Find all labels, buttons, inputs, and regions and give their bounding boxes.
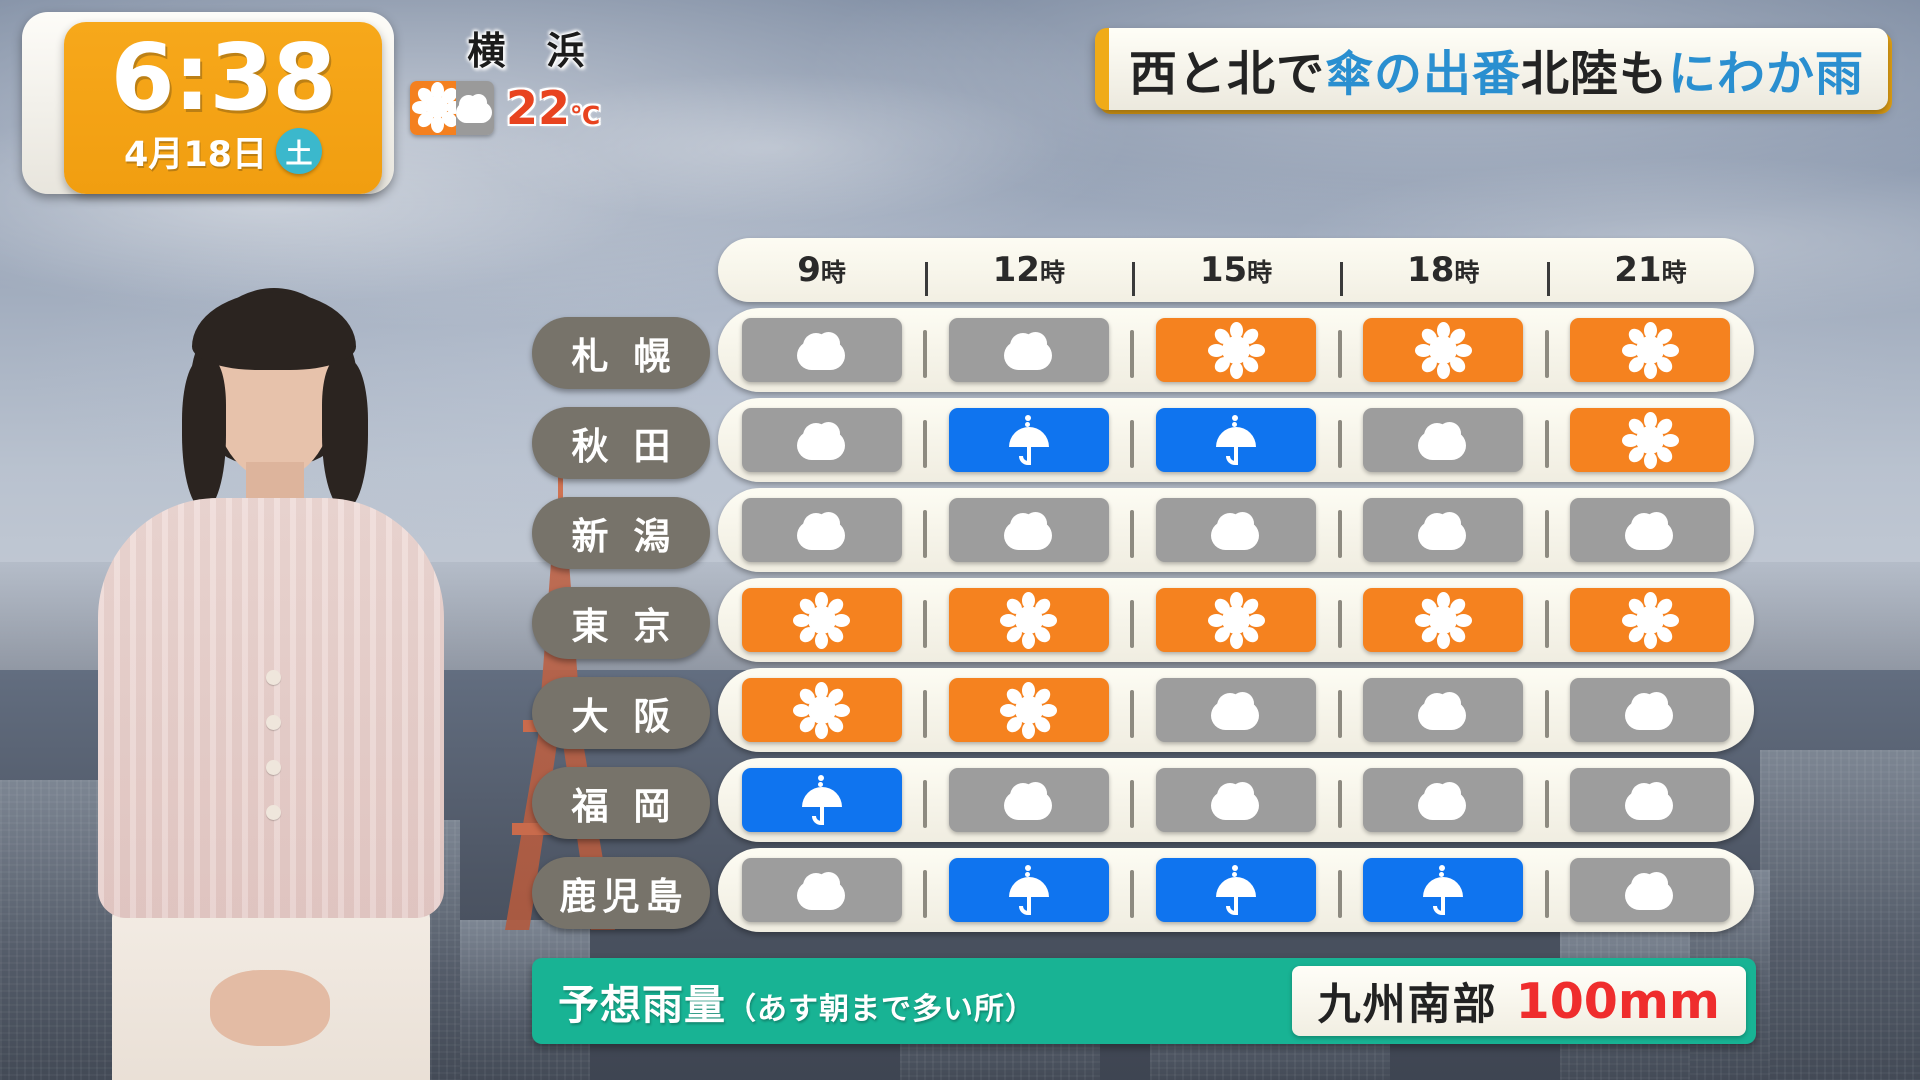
cloud-icon <box>795 870 849 910</box>
cloud-icon <box>1623 780 1677 820</box>
umbrella-rain-icon <box>1006 415 1052 465</box>
forecast-cell[interactable] <box>1340 588 1547 652</box>
sun-ray <box>1437 632 1450 649</box>
city-label-大阪[interactable]: 大 阪 <box>532 677 710 749</box>
sun-half <box>410 81 456 135</box>
weather-chip-cloudy[interactable] <box>949 318 1109 382</box>
weather-chip-rain[interactable] <box>1363 858 1523 922</box>
table-row: 鹿児島 <box>532 848 1754 932</box>
table-row: 大 阪 <box>532 668 1754 752</box>
weather-chip-sunny[interactable] <box>949 678 1109 742</box>
forecast-cell[interactable] <box>1132 408 1339 472</box>
presenter-hair-right <box>322 360 368 510</box>
weather-chip-sunny[interactable] <box>1570 318 1730 382</box>
umbrella-rain-icon <box>1213 865 1259 915</box>
clock-widget: 6:38 4月18日 土 <box>22 12 394 194</box>
rainfall-amount: 100mm <box>1516 973 1720 1030</box>
forecast-cell[interactable] <box>1132 588 1339 652</box>
sun-icon <box>799 597 845 643</box>
forecast-cell[interactable] <box>1340 318 1547 382</box>
presenter-hair-left <box>182 360 226 510</box>
cloud-icon <box>1623 510 1677 550</box>
city-name: 福 岡 <box>566 776 677 830</box>
weather-chip-cloudy[interactable] <box>742 858 902 922</box>
forecast-cell[interactable] <box>1547 318 1754 382</box>
sun-ray <box>1230 632 1243 649</box>
umbrella-rain-icon <box>1420 865 1466 915</box>
weather-chip-cloudy[interactable] <box>1363 498 1523 562</box>
cardigan-button <box>266 805 281 820</box>
weather-chip-cloudy[interactable] <box>949 768 1109 832</box>
forecast-table: 9時12時15時18時21時 札 幌秋 田新 潟東 京大 阪福 岡鹿児島 <box>532 238 1754 932</box>
sun-ray <box>1022 632 1035 649</box>
weather-chip-cloudy[interactable] <box>742 318 902 382</box>
weather-chip-rain[interactable] <box>1156 858 1316 922</box>
weather-chip-cloudy[interactable] <box>1363 408 1523 472</box>
city-label-福岡[interactable]: 福 岡 <box>532 767 710 839</box>
sun-icon <box>1627 417 1673 463</box>
forecast-cell[interactable] <box>718 318 925 382</box>
weather-chip-cloudy[interactable] <box>1156 768 1316 832</box>
forecast-cell[interactable] <box>718 678 925 742</box>
city-name: 鹿児島 <box>554 866 689 920</box>
local-weather-block: 横 浜 22℃ <box>406 20 646 140</box>
time-header-15: 15時 <box>1132 250 1339 290</box>
cardigan-button <box>266 670 281 685</box>
sun-ray <box>1455 614 1472 627</box>
city-name: 大 阪 <box>566 686 677 740</box>
sun-ray <box>1644 362 1657 379</box>
weather-chip-cloudy[interactable] <box>742 408 902 472</box>
forecast-cell[interactable] <box>1340 858 1547 922</box>
presenter-hands <box>210 970 330 1046</box>
cardigan-button <box>266 760 281 775</box>
rainfall-label-main: 予想雨量 <box>558 981 726 1029</box>
time-unit: 時 <box>1662 258 1687 287</box>
cloud-icon <box>1416 420 1470 460</box>
weather-chip-sunny[interactable] <box>1363 318 1523 382</box>
forecast-cell[interactable] <box>1132 678 1339 742</box>
sun-ray <box>1415 614 1432 627</box>
time-header-row: 9時12時15時18時21時 <box>718 238 1754 302</box>
weather-chip-cloudy[interactable] <box>1570 768 1730 832</box>
sun-ray <box>1662 614 1679 627</box>
table-row: 東 京 <box>532 578 1754 662</box>
cloud-icon <box>1002 510 1056 550</box>
sun-ray <box>1455 344 1472 357</box>
sun-ray <box>1662 434 1679 447</box>
sun-ray <box>1644 452 1657 469</box>
current-time: 6:38 <box>111 35 336 121</box>
cloud-icon <box>1623 690 1677 730</box>
weather-chip-cloudy[interactable] <box>1570 678 1730 742</box>
time-hour: 15 <box>1200 250 1247 290</box>
sun-icon <box>1420 597 1466 643</box>
cloud-icon <box>1002 780 1056 820</box>
time-unit: 時 <box>821 258 846 287</box>
sun-ray <box>1230 362 1243 379</box>
cloud-icon <box>1002 330 1056 370</box>
cloud-icon <box>1623 870 1677 910</box>
sun-ray <box>1022 592 1035 609</box>
time-unit: 時 <box>1040 258 1065 287</box>
forecast-cell[interactable] <box>925 408 1132 472</box>
city-label-鹿児島[interactable]: 鹿児島 <box>532 857 710 929</box>
weather-chip-sunny[interactable] <box>1363 588 1523 652</box>
sun-ray <box>1622 434 1639 447</box>
sun-ray <box>815 722 828 739</box>
city-label-新潟[interactable]: 新 潟 <box>532 497 710 569</box>
forecast-cells <box>718 668 1754 752</box>
forecast-cell[interactable] <box>1547 678 1754 742</box>
forecast-cell[interactable] <box>718 408 925 472</box>
sun-ray <box>1415 344 1432 357</box>
forecast-cells <box>718 308 1754 392</box>
presenter-cardigan <box>98 498 444 918</box>
weather-chip-sunny[interactable] <box>742 588 902 652</box>
sun-ray <box>1208 344 1225 357</box>
sun-ray <box>1040 614 1057 627</box>
forecast-cell[interactable] <box>1132 318 1339 382</box>
rainfall-area: 九州南部 <box>1318 970 1498 1032</box>
forecast-cell[interactable] <box>925 768 1132 832</box>
weather-chip-sunny[interactable] <box>1570 588 1730 652</box>
weather-chip-rain[interactable] <box>949 408 1109 472</box>
weather-chip-cloudy[interactable] <box>742 498 902 562</box>
sun-ray <box>1248 614 1265 627</box>
cloud-half <box>456 81 494 135</box>
forecast-cells <box>718 848 1754 932</box>
cloud-icon <box>1209 780 1263 820</box>
forecast-cell[interactable] <box>925 318 1132 382</box>
temperature-value: 22 <box>506 81 570 135</box>
city-label-東京[interactable]: 東 京 <box>532 587 710 659</box>
forecast-cell[interactable] <box>1547 408 1754 472</box>
forecast-cell[interactable] <box>1340 678 1547 742</box>
forecast-cell[interactable] <box>1547 588 1754 652</box>
weather-chip-cloudy[interactable] <box>949 498 1109 562</box>
forecast-cell[interactable] <box>925 588 1132 652</box>
city-label-秋田[interactable]: 秋 田 <box>532 407 710 479</box>
headline-text-part1: 西と北で <box>1129 34 1325 104</box>
time-header-12: 12時 <box>925 250 1132 290</box>
forecast-cell[interactable] <box>1132 498 1339 562</box>
sun-ray <box>1000 614 1017 627</box>
forecast-cell[interactable] <box>718 498 925 562</box>
forecast-cell[interactable] <box>718 588 925 652</box>
headline-banner: 西と北で 傘の出番 北陸も にわか雨 <box>1095 28 1888 110</box>
sun-ray <box>1022 682 1035 699</box>
forecast-cell[interactable] <box>1547 858 1754 922</box>
sun-ray <box>1248 344 1265 357</box>
sun-ray <box>833 704 850 717</box>
table-row: 福 岡 <box>532 758 1754 842</box>
weather-chip-cloudy[interactable] <box>1363 768 1523 832</box>
forecast-cells <box>718 578 1754 662</box>
city-name: 新 潟 <box>566 506 677 560</box>
weather-chip-cloudy[interactable] <box>1363 678 1523 742</box>
sun-ray <box>793 614 810 627</box>
table-row: 新 潟 <box>532 488 1754 572</box>
forecast-cells <box>718 758 1754 842</box>
weather-chip-sunny[interactable] <box>1570 408 1730 472</box>
forecast-cell[interactable] <box>925 858 1132 922</box>
forecast-cell[interactable] <box>718 768 925 832</box>
forecast-cell[interactable] <box>1340 408 1547 472</box>
local-conditions-row: 22℃ <box>406 81 646 135</box>
sun-ray <box>1622 344 1639 357</box>
cloud-icon <box>454 93 494 123</box>
weather-chip-cloudy[interactable] <box>1570 498 1730 562</box>
cloud-icon <box>1416 690 1470 730</box>
temperature-unit: ℃ <box>570 101 600 130</box>
weather-chip-cloudy[interactable] <box>1570 858 1730 922</box>
umbrella-rain-icon <box>1213 415 1259 465</box>
umbrella-rain-icon <box>799 775 845 825</box>
city-name: 札 幌 <box>566 326 677 380</box>
weather-chip-rain[interactable] <box>742 768 902 832</box>
cloud-icon <box>795 510 849 550</box>
weather-chip-rain[interactable] <box>1156 408 1316 472</box>
time-unit: 時 <box>1247 258 1272 287</box>
time-header-18: 18時 <box>1340 250 1547 290</box>
headline-text-part2: 北陸も <box>1521 34 1668 104</box>
forecast-cell[interactable] <box>925 678 1132 742</box>
sun-ray <box>815 682 828 699</box>
weather-chip-sunny[interactable] <box>742 678 902 742</box>
forecast-cell[interactable] <box>1340 498 1547 562</box>
headline-highlight1: 傘の出番 <box>1325 34 1521 104</box>
weather-presenter <box>40 270 460 1080</box>
forecast-cell[interactable] <box>718 858 925 922</box>
table-row: 札 幌 <box>532 308 1754 392</box>
time-hour: 9 <box>797 250 821 290</box>
sun-ray <box>833 614 850 627</box>
sun-icon <box>1627 597 1673 643</box>
sun-ray <box>1230 592 1243 609</box>
rainfall-label: 予想雨量（あす朝まで多い所） <box>558 971 1036 1031</box>
sun-ray <box>1000 704 1017 717</box>
date-row: 4月18日 土 <box>124 126 322 177</box>
weather-chip-sunny[interactable] <box>1156 588 1316 652</box>
weather-chip-sunny[interactable] <box>1156 318 1316 382</box>
cloud-icon <box>795 420 849 460</box>
rainfall-banner: 予想雨量（あす朝まで多い所） 九州南部 100mm <box>532 958 1756 1044</box>
sun-ray <box>1437 322 1450 339</box>
sun-ray <box>1437 592 1450 609</box>
local-city-name: 横 浜 <box>406 20 646 75</box>
cloud-icon <box>1209 510 1263 550</box>
cloud-icon <box>1416 510 1470 550</box>
sun-icon <box>1213 327 1259 373</box>
presenter-fringe <box>192 292 356 370</box>
sun-icon <box>1627 327 1673 373</box>
weather-chip-rain[interactable] <box>949 858 1109 922</box>
forecast-rows: 札 幌秋 田新 潟東 京大 阪福 岡鹿児島 <box>532 308 1754 932</box>
clock-card: 6:38 4月18日 土 <box>64 22 382 194</box>
headline-highlight2: にわか雨 <box>1668 34 1864 104</box>
table-row: 秋 田 <box>532 398 1754 482</box>
rainfall-value-box: 九州南部 100mm <box>1292 966 1746 1036</box>
weather-chip-cloudy[interactable] <box>1156 498 1316 562</box>
sun-ray <box>1040 704 1057 717</box>
sun-ray <box>1644 322 1657 339</box>
sun-ray <box>815 632 828 649</box>
time-header-21: 21時 <box>1547 250 1754 290</box>
day-of-week-badge: 土 <box>276 128 322 174</box>
time-hour: 12 <box>993 250 1040 290</box>
sun-cloud-split-icon <box>410 81 494 135</box>
time-unit: 時 <box>1454 258 1479 287</box>
local-temperature: 22℃ <box>506 81 600 135</box>
sun-ray <box>815 592 828 609</box>
forecast-cell[interactable] <box>1132 858 1339 922</box>
cloud-icon <box>1416 780 1470 820</box>
sun-ray <box>1644 592 1657 609</box>
rainfall-label-sub: （あす朝まで多い所） <box>726 992 1036 1027</box>
sun-ray <box>1022 722 1035 739</box>
forecast-cell[interactable] <box>1547 768 1754 832</box>
sun-ray <box>1437 362 1450 379</box>
cardigan-button <box>266 715 281 730</box>
forecast-cell[interactable] <box>1132 768 1339 832</box>
sun-ray <box>1622 614 1639 627</box>
weather-chip-sunny[interactable] <box>949 588 1109 652</box>
cloud-icon <box>1209 690 1263 730</box>
umbrella-rain-icon <box>1006 865 1052 915</box>
building <box>1760 750 1920 1080</box>
sun-ray <box>1230 322 1243 339</box>
cloud-icon <box>795 330 849 370</box>
forecast-cell[interactable] <box>1547 498 1754 562</box>
sun-ray <box>1644 412 1657 429</box>
sun-icon <box>1213 597 1259 643</box>
current-date: 4月18日 <box>124 126 267 177</box>
sun-icon <box>1006 597 1052 643</box>
time-header-9: 9時 <box>718 250 925 290</box>
sun-icon <box>418 88 456 126</box>
sun-icon <box>799 687 845 733</box>
sun-ray <box>1644 632 1657 649</box>
city-label-札幌[interactable]: 札 幌 <box>532 317 710 389</box>
forecast-cells <box>718 488 1754 572</box>
sun-ray <box>1208 614 1225 627</box>
sun-ray <box>793 704 810 717</box>
city-name: 秋 田 <box>566 416 677 470</box>
time-hour: 21 <box>1614 250 1661 290</box>
forecast-cell[interactable] <box>925 498 1132 562</box>
city-name: 東 京 <box>566 596 677 650</box>
sun-icon <box>1420 327 1466 373</box>
forecast-cell[interactable] <box>1340 768 1547 832</box>
sun-icon <box>1006 687 1052 733</box>
weather-chip-cloudy[interactable] <box>1156 678 1316 742</box>
sun-ray <box>1662 344 1679 357</box>
time-hour: 18 <box>1407 250 1454 290</box>
forecast-cells <box>718 398 1754 482</box>
